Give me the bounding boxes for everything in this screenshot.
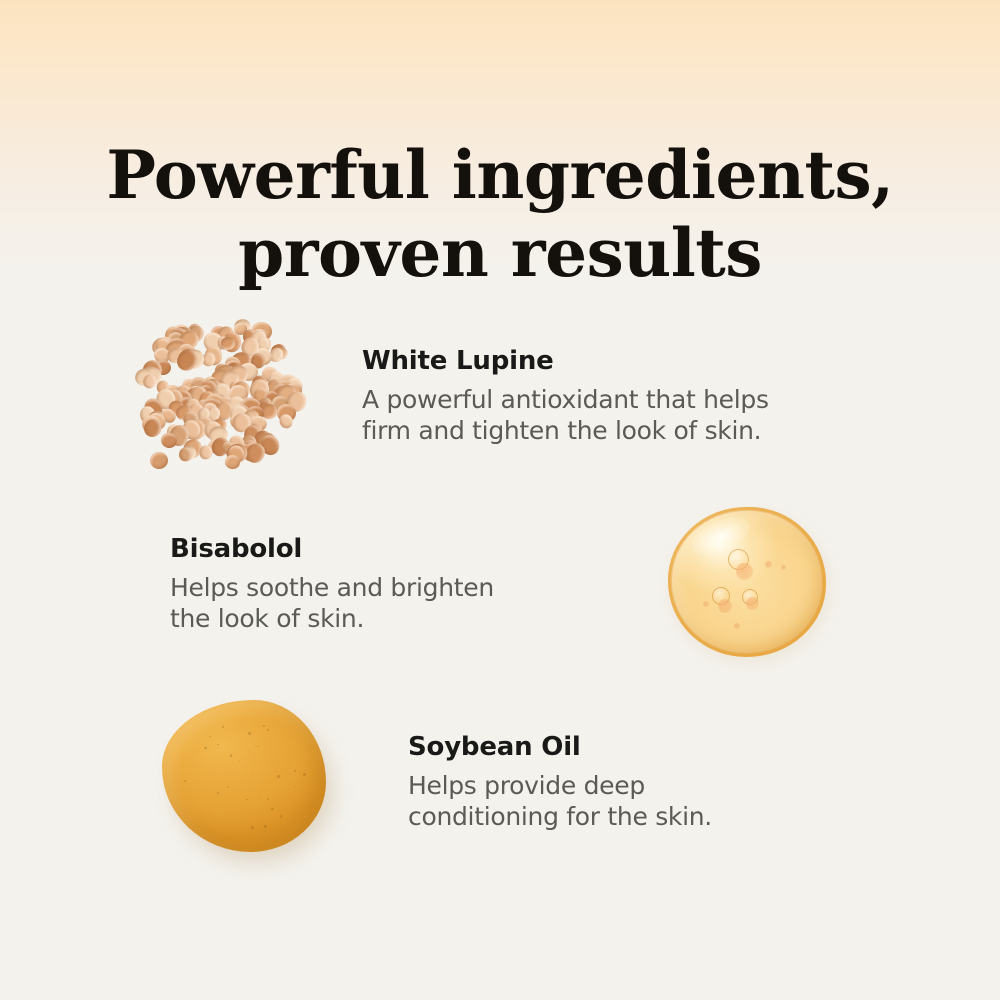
ingredient-row-white-lupine: White Lupine A powerful antioxidant that… <box>120 300 900 490</box>
blob-speck <box>230 754 232 756</box>
blob-speck <box>267 729 269 731</box>
oil-blob-graphic <box>160 700 336 862</box>
ingredient-description: Helps soothe and brighten the look of sk… <box>170 572 640 634</box>
ingredients-infographic: Powerful ingredients, proven results Whi… <box>0 0 1000 1000</box>
ingredient-description: Helps provide deep conditioning for the … <box>408 770 712 832</box>
blob-speck <box>264 825 266 827</box>
soybean-oil-blob-image <box>160 700 336 862</box>
lupine-seed-stray <box>150 452 168 469</box>
blob-speck <box>209 736 210 737</box>
droplet-bubble-dot <box>718 599 732 613</box>
ingredient-row-bisabolol: Bisabolol Helps soothe and brighten the … <box>170 505 850 661</box>
droplet-bubble-dot <box>736 563 753 580</box>
ingredient-title: Bisabolol <box>170 533 640 565</box>
ingredient-title: Soybean Oil <box>408 731 712 763</box>
droplet-bubble-dot <box>765 561 772 568</box>
droplet-bubble-dot <box>781 565 786 570</box>
white-lupine-text: White Lupine A powerful antioxidant that… <box>362 345 769 446</box>
blob-body <box>162 700 326 852</box>
ingredient-description: A powerful antioxidant that helps firm a… <box>362 384 769 446</box>
droplet-bubble-dot <box>746 597 759 610</box>
blob-speck <box>277 775 280 778</box>
bisabolol-gel-droplet-image <box>666 505 830 661</box>
page-title: Powerful ingredients, proven results <box>0 136 1000 292</box>
seed-pile-graphic <box>120 300 320 490</box>
droplet-bubble-dot <box>734 623 740 629</box>
blob-speck <box>248 732 251 735</box>
gel-droplet-graphic <box>666 505 830 661</box>
blob-speck <box>217 744 218 745</box>
blob-speck <box>280 815 282 817</box>
lupine-seed <box>224 454 241 470</box>
white-lupine-seeds-image <box>120 300 320 490</box>
droplet-bubble-dot <box>703 601 709 607</box>
bisabolol-text: Bisabolol Helps soothe and brighten the … <box>170 533 640 634</box>
ingredient-title: White Lupine <box>362 345 769 377</box>
ingredient-row-soybean-oil: Soybean Oil Helps provide deep condition… <box>160 700 860 862</box>
soybean-oil-text: Soybean Oil Helps provide deep condition… <box>408 731 712 832</box>
blob-speck <box>303 773 305 775</box>
blob-speck <box>222 726 224 728</box>
